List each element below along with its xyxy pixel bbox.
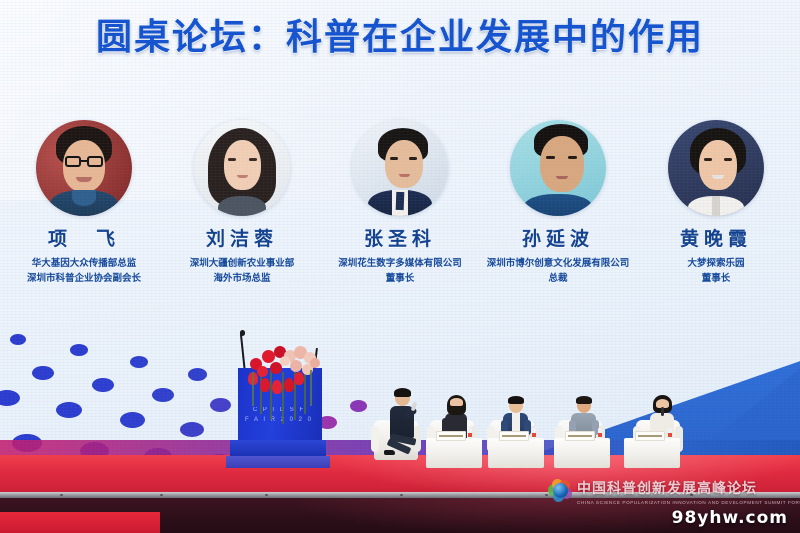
speaker-name-4: 孙延波	[522, 224, 594, 251]
forum-logo-text: 中国科普创新发展高峰论坛 CHINA SCIENCE POPULARIZATIO…	[577, 478, 800, 505]
speaker-name-3: 张圣科	[364, 224, 436, 251]
avatar-2	[194, 120, 290, 216]
podium-flower-arrangement	[244, 342, 324, 404]
speaker-org-line1-4: 深圳市博尔创意文化发展有限公司	[487, 258, 630, 269]
speaker-name-1: 项 飞	[48, 224, 120, 251]
water-bottle-4	[598, 428, 602, 439]
podium-text-line2: F A I R 2 0 2 0	[245, 417, 313, 423]
speaker-title-3: 深圳花生数字多媒体有限公司 董事长	[338, 257, 462, 286]
side-table-2	[426, 438, 482, 468]
person-1	[386, 390, 420, 456]
speaker-card-1: 项 飞 华大基因大众传播部总监 深圳市科普企业协会副会长	[8, 120, 160, 310]
speaker-card-3: 张圣科 深圳花生数字多媒体有限公司 董事长	[324, 120, 476, 310]
podium-foot	[226, 456, 330, 468]
avatar-5	[668, 120, 764, 216]
speaker-name-2: 刘洁蓉	[206, 224, 278, 251]
page-title: 圆桌论坛：科普在企业发展中的作用	[0, 8, 800, 60]
name-card-5	[635, 431, 665, 441]
podium-base	[230, 440, 326, 456]
speaker-list: 项 飞 华大基因大众传播部总监 深圳市科普企业协会副会长 刘洁蓉	[0, 120, 800, 310]
speaker-org-line2-5: 董事长	[687, 272, 744, 287]
speaker-org-line2-3: 董事长	[338, 272, 462, 287]
forum-logo: 中国科普创新发展高峰论坛 CHINA SCIENCE POPULARIZATIO…	[548, 478, 768, 504]
speaker-card-5: 黄晚霞 大梦探索乐园 董事长	[640, 120, 792, 310]
speaker-title-5: 大梦探索乐园 董事长	[687, 257, 744, 286]
side-table-3	[488, 438, 544, 468]
microphone-head-left	[240, 330, 245, 336]
avatar-4	[510, 120, 606, 216]
forum-logo-en: CHINA SCIENCE POPULARIZATION INNOVATION …	[577, 500, 800, 505]
speaker-org-line1-5: 大梦探索乐园	[687, 258, 744, 269]
name-card-3	[499, 431, 529, 441]
speaker-org-line1-3: 深圳花生数字多媒体有限公司	[338, 258, 462, 269]
speaker-org-line2-4: 总裁	[487, 272, 630, 287]
panel-discussion-group	[378, 356, 708, 468]
water-bottle-2	[468, 428, 472, 439]
speaker-title-1: 华大基因大众传播部总监 深圳市科普企业协会副会长	[27, 257, 141, 286]
speaker-podium: C P I D S F F A I R 2 0 2 0	[236, 368, 324, 473]
avatar-1	[36, 120, 132, 216]
speaker-title-4: 深圳市博尔创意文化发展有限公司 总裁	[487, 257, 630, 286]
name-card-4	[565, 431, 595, 441]
conference-photo: 圆桌论坛：科普在企业发展中的作用 项 飞 华大基因大众传播部	[0, 0, 800, 533]
water-bottle-5	[668, 428, 672, 439]
globe-icon	[548, 479, 572, 503]
speaker-card-2: 刘洁蓉 深圳大疆创新农业事业部 海外市场总监	[166, 120, 318, 310]
speaker-org-line2-1: 深圳市科普企业协会副会长	[27, 272, 141, 287]
stage-red-step-block	[0, 512, 160, 533]
speaker-name-5: 黄晚霞	[680, 224, 752, 251]
speaker-org-line1-2: 深圳大疆创新农业事业部	[190, 258, 295, 269]
speaker-org-line1-1: 华大基因大众传播部总监	[32, 258, 137, 269]
water-bottle-3	[532, 428, 536, 439]
name-card-2	[436, 431, 466, 441]
side-table-4	[554, 438, 610, 468]
speaker-org-line2-2: 海外市场总监	[190, 272, 295, 287]
forum-logo-cn: 中国科普创新发展高峰论坛	[577, 478, 800, 498]
watermark: 98yhw.com	[672, 508, 788, 528]
forum-logo-cn-text: 中国科普创新发展高峰论坛	[577, 481, 757, 497]
side-table-5	[624, 438, 680, 468]
speaker-title-2: 深圳大疆创新农业事业部 海外市场总监	[190, 257, 295, 286]
speaker-card-4: 孙延波 深圳市博尔创意文化发展有限公司 总裁	[482, 120, 634, 310]
avatar-3	[352, 120, 448, 216]
